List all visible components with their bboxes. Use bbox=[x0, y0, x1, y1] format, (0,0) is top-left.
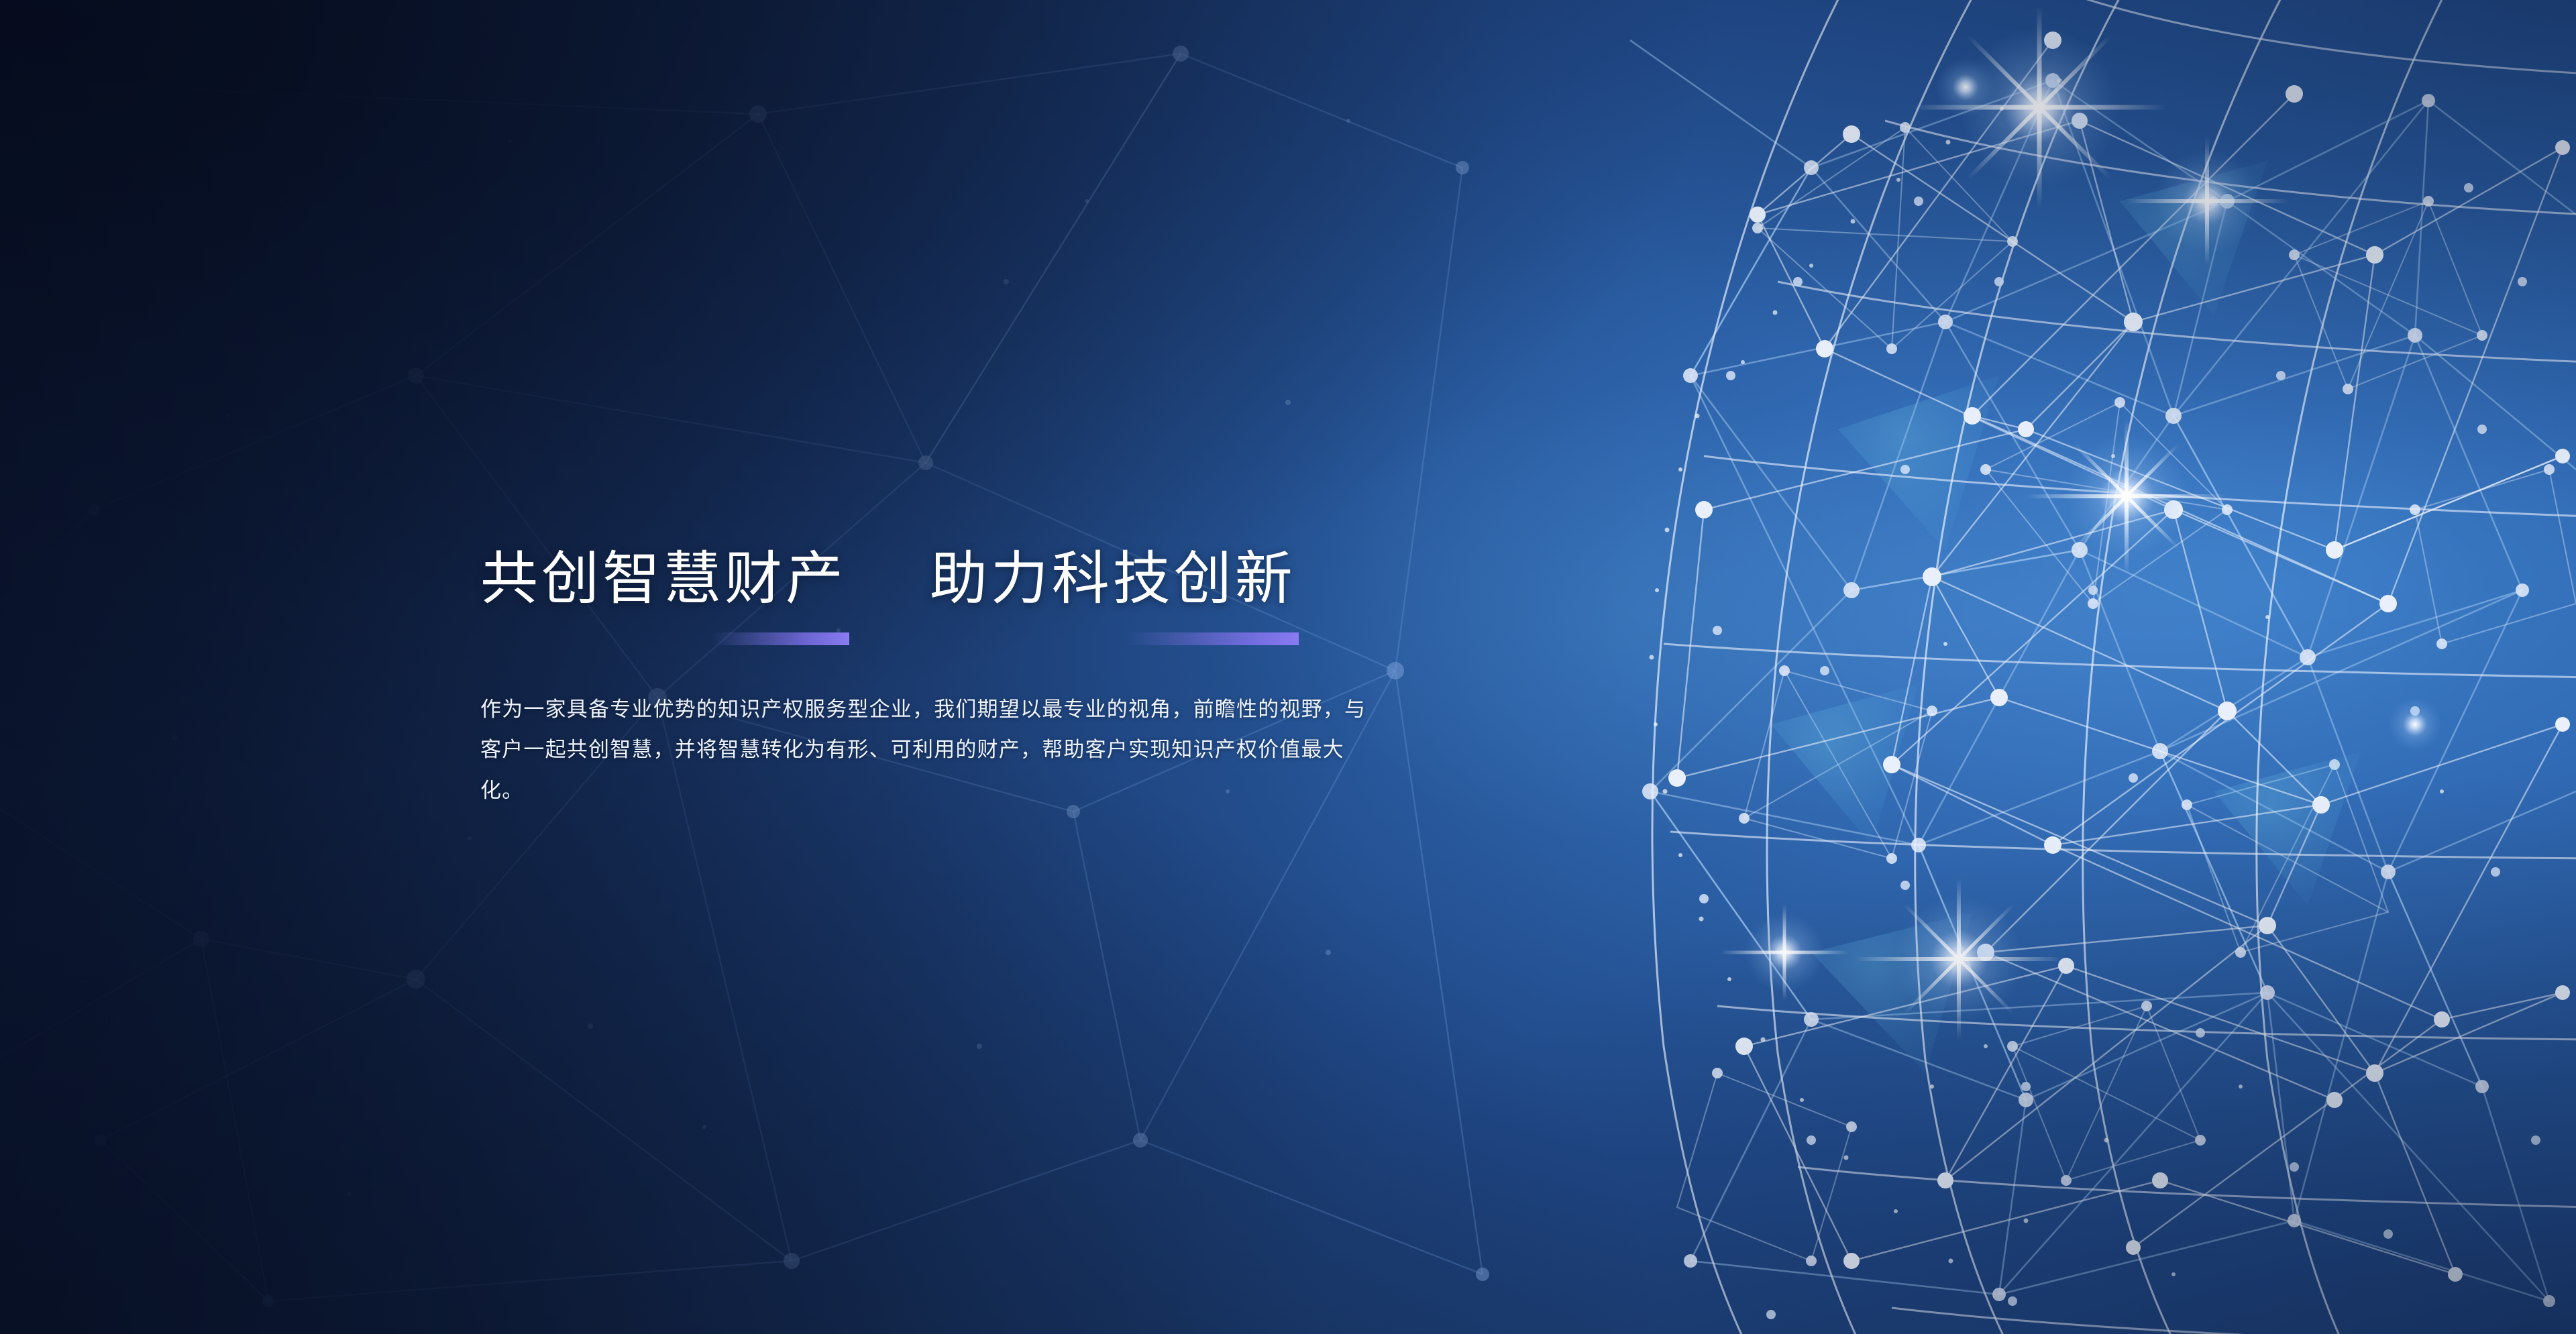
hero-banner: 共创智慧财产 助力科技创新 作为一家具备专业优势的知识产权服务型企业，我们期望以… bbox=[0, 0, 2576, 1334]
headline-accent-bar-2 bbox=[1126, 632, 1299, 645]
page-title: 共创智慧财产 助力科技创新 bbox=[480, 550, 1419, 608]
headline-phrase-2: 助力科技创新 bbox=[930, 550, 1296, 608]
headline-accent-bar-1 bbox=[712, 632, 849, 645]
hero-content: 共创智慧财产 助力科技创新 作为一家具备专业优势的知识产权服务型企业，我们期望以… bbox=[480, 550, 1419, 832]
headline-phrase-2-text: 助力科技创新 bbox=[930, 547, 1296, 611]
headline-phrase-1-text: 共创智慧财产 bbox=[480, 547, 847, 611]
hero-description: 作为一家具备专业优势的知识产权服务型企业，我们期望以最专业的视角，前瞻性的视野，… bbox=[480, 689, 1386, 811]
headline-phrase-1: 共创智慧财产 bbox=[480, 550, 847, 608]
